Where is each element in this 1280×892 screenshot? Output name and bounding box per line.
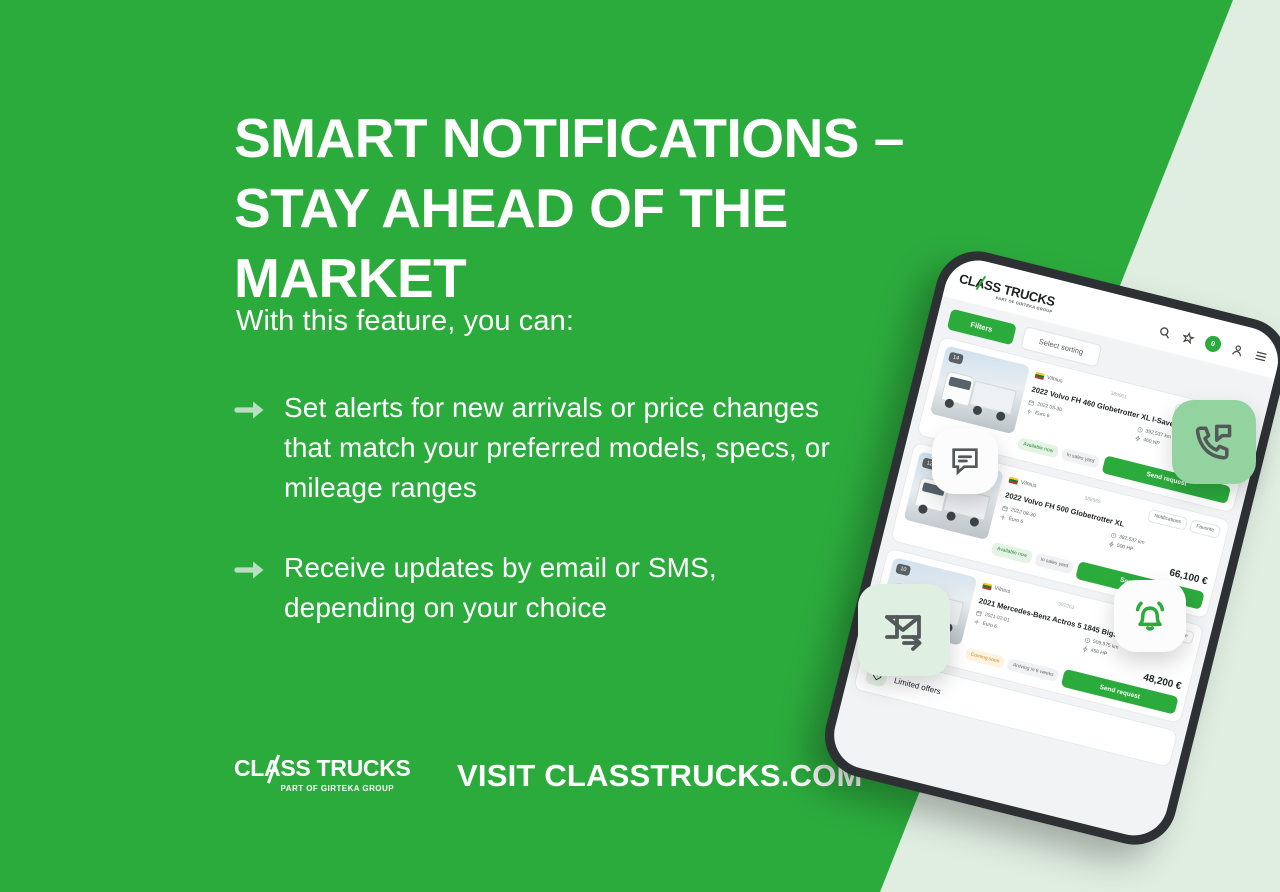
spec-value: Euro 6 — [982, 621, 998, 630]
location-tag: In sales yard — [1060, 447, 1100, 468]
email-send-icon — [880, 606, 928, 654]
lead-text: With this feature, you can: — [236, 305, 574, 338]
alert-bell-icon — [1130, 596, 1170, 636]
alert-bell-icon-tile[interactable] — [1114, 580, 1186, 652]
arrow-right-icon — [234, 553, 268, 589]
spec-value: Euro 6 — [1008, 515, 1024, 524]
limited-offers-label: Limited offers — [893, 676, 942, 696]
flag-icon — [1035, 371, 1045, 379]
list-item-label: Set alerts for new arrivals or price cha… — [284, 388, 854, 508]
listing-location-label: Vilnius — [994, 585, 1011, 595]
power-icon — [1108, 540, 1115, 547]
photo-count-badge: 14 — [948, 352, 964, 365]
availability-tag: Available now — [991, 542, 1034, 564]
listing-reference: 392263 — [1057, 601, 1075, 611]
road-icon — [1136, 426, 1143, 433]
power-icon — [1134, 435, 1141, 442]
cta-url[interactable]: VISIT CLASSTRUCKS.COM — [457, 758, 863, 794]
calendar-icon — [1002, 504, 1009, 511]
gear-icon — [999, 513, 1006, 520]
page-title: SMART NOTIFICATIONS – STAY AHEAD OF THE … — [234, 104, 1034, 314]
poster-canvas: SMART NOTIFICATIONS – STAY AHEAD OF THE … — [0, 0, 1280, 892]
spec-value: Euro 6 — [1034, 410, 1050, 419]
availability-tag: Available now — [1017, 437, 1060, 459]
spec-value: 500 HP — [1116, 542, 1134, 552]
list-item: Set alerts for new arrivals or price cha… — [234, 388, 854, 508]
brand-logo-wordmark: CLASS TRUCKS — [234, 757, 394, 780]
email-send-icon-tile[interactable] — [858, 584, 950, 676]
search-icon[interactable] — [1157, 324, 1173, 340]
menu-icon[interactable] — [1253, 348, 1269, 364]
flag-icon — [982, 582, 992, 590]
listing-location-label: Vilnius — [1046, 374, 1063, 384]
gear-icon — [1026, 408, 1033, 415]
phone-message-icon-tile[interactable] — [1172, 400, 1256, 484]
calendar-icon — [975, 610, 982, 617]
spec-value: 450 HP — [1090, 648, 1108, 658]
chat-icon-tile[interactable] — [932, 428, 998, 494]
road-icon — [1083, 637, 1090, 644]
brand-logo-tagline: PART OF GIRTEKA GROUP — [234, 784, 394, 793]
listing-location-label: Vilnius — [1020, 480, 1037, 490]
listing-photo[interactable]: 14 — [930, 346, 1030, 435]
spec-value: 460 HP — [1143, 437, 1161, 447]
eta-tag: Arriving in 6 weeks — [1006, 658, 1059, 682]
user-icon[interactable] — [1230, 342, 1246, 358]
benefit-list: Set alerts for new arrivals or price cha… — [234, 388, 854, 668]
listing-reference: 388965 — [1084, 496, 1102, 506]
gear-icon — [973, 619, 980, 626]
truck-illustration — [939, 368, 1019, 424]
headline-line-2: STAY AHEAD OF THE MARKET — [234, 174, 1034, 314]
location-tag: In sales yard — [1034, 553, 1074, 574]
brand-logo-text: CLASS TRUCKS — [234, 755, 411, 781]
list-item: Receive updates by email or SMS, dependi… — [234, 548, 854, 628]
arrow-right-icon — [234, 393, 268, 429]
power-icon — [1081, 646, 1088, 653]
availability-tag: Coming soon — [964, 648, 1005, 669]
headline-line-1: SMART NOTIFICATIONS – — [234, 107, 904, 169]
calendar-icon — [1028, 399, 1035, 406]
brand-logo: CLASS TRUCKS PART OF GIRTEKA GROUP — [234, 757, 394, 793]
photo-count-badge: 10 — [895, 563, 911, 576]
flag-icon — [1008, 477, 1018, 485]
listing-reference: 389001 — [1110, 390, 1128, 400]
star-icon[interactable] — [1180, 330, 1196, 346]
list-item-label: Receive updates by email or SMS, dependi… — [284, 548, 854, 628]
cart-badge[interactable]: 0 — [1203, 334, 1222, 353]
favorite-button[interactable]: Favorite — [1189, 519, 1221, 539]
listing-location: Vilnius — [1008, 477, 1037, 490]
road-icon — [1110, 531, 1117, 538]
listing-location: Vilnius — [1035, 371, 1064, 384]
chat-icon — [948, 444, 982, 478]
phone-message-icon — [1192, 420, 1236, 464]
listing-location: Vilnius — [982, 582, 1011, 595]
